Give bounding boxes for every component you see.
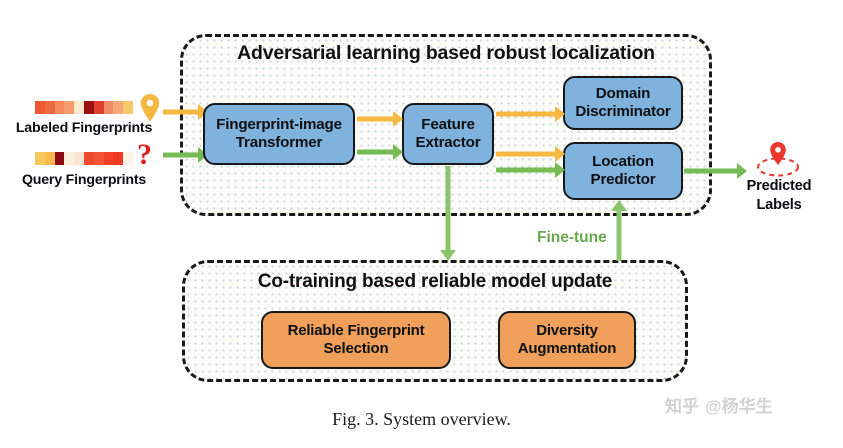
diversity-augmentation-line1: Diversity [536, 322, 598, 339]
query-fingerprints-strip [35, 152, 133, 165]
labeled-fingerprints-strip [35, 101, 133, 114]
reliable-fingerprint-selection-line1: Reliable Fingerprint [288, 322, 425, 339]
diversity-augmentation-box[interactable]: Diversity Augmentation [498, 311, 636, 369]
location-predictor-line1: Location [592, 153, 654, 170]
watermark-user: @杨华生 [705, 397, 773, 416]
reliable-fingerprint-selection-line2: Selection [324, 340, 389, 357]
domain-discriminator-line1: Domain [596, 85, 651, 102]
map-pin-icon [139, 93, 161, 123]
fingerprint-image-transformer-line1: Fingerprint-image [216, 116, 342, 133]
watermark: 知乎@杨华生 [665, 392, 773, 417]
predicted-labels-line2: Labels [729, 197, 829, 213]
watermark-logo: 知乎 [665, 392, 699, 417]
fingerprint-image-transformer-box[interactable]: Fingerprint-image Transformer [203, 103, 355, 165]
labeled-fingerprints-label: Labeled Fingerprints [8, 120, 160, 136]
domain-discriminator-line2: Discriminator [575, 103, 670, 120]
feature-extractor-line2: Extractor [416, 134, 481, 151]
question-mark-icon: ? [137, 140, 152, 170]
figure-canvas: Adversarial learning based robust locali… [0, 0, 843, 448]
domain-discriminator-box[interactable]: Domain Discriminator [563, 76, 683, 130]
location-predictor-box[interactable]: Location Predictor [563, 142, 683, 200]
location-predictor-line2: Predictor [591, 171, 656, 188]
map-pin-dashed-icon [752, 140, 804, 180]
diversity-augmentation-line2: Augmentation [518, 340, 616, 357]
feature-extractor-box[interactable]: Feature Extractor [402, 103, 494, 165]
query-fingerprints-label: Query Fingerprints [8, 172, 160, 188]
feature-extractor-line1: Feature [421, 116, 474, 133]
fine-tune-label: Fine-tune [537, 229, 607, 247]
predicted-labels-line1: Predicted [729, 178, 829, 194]
reliable-fingerprint-selection-box[interactable]: Reliable Fingerprint Selection [261, 311, 451, 369]
co-training-panel-title: Co-training based reliable model update [182, 271, 688, 293]
adversarial-learning-panel-title: Adversarial learning based robust locali… [180, 42, 712, 65]
fingerprint-image-transformer-line2: Transformer [236, 134, 322, 151]
